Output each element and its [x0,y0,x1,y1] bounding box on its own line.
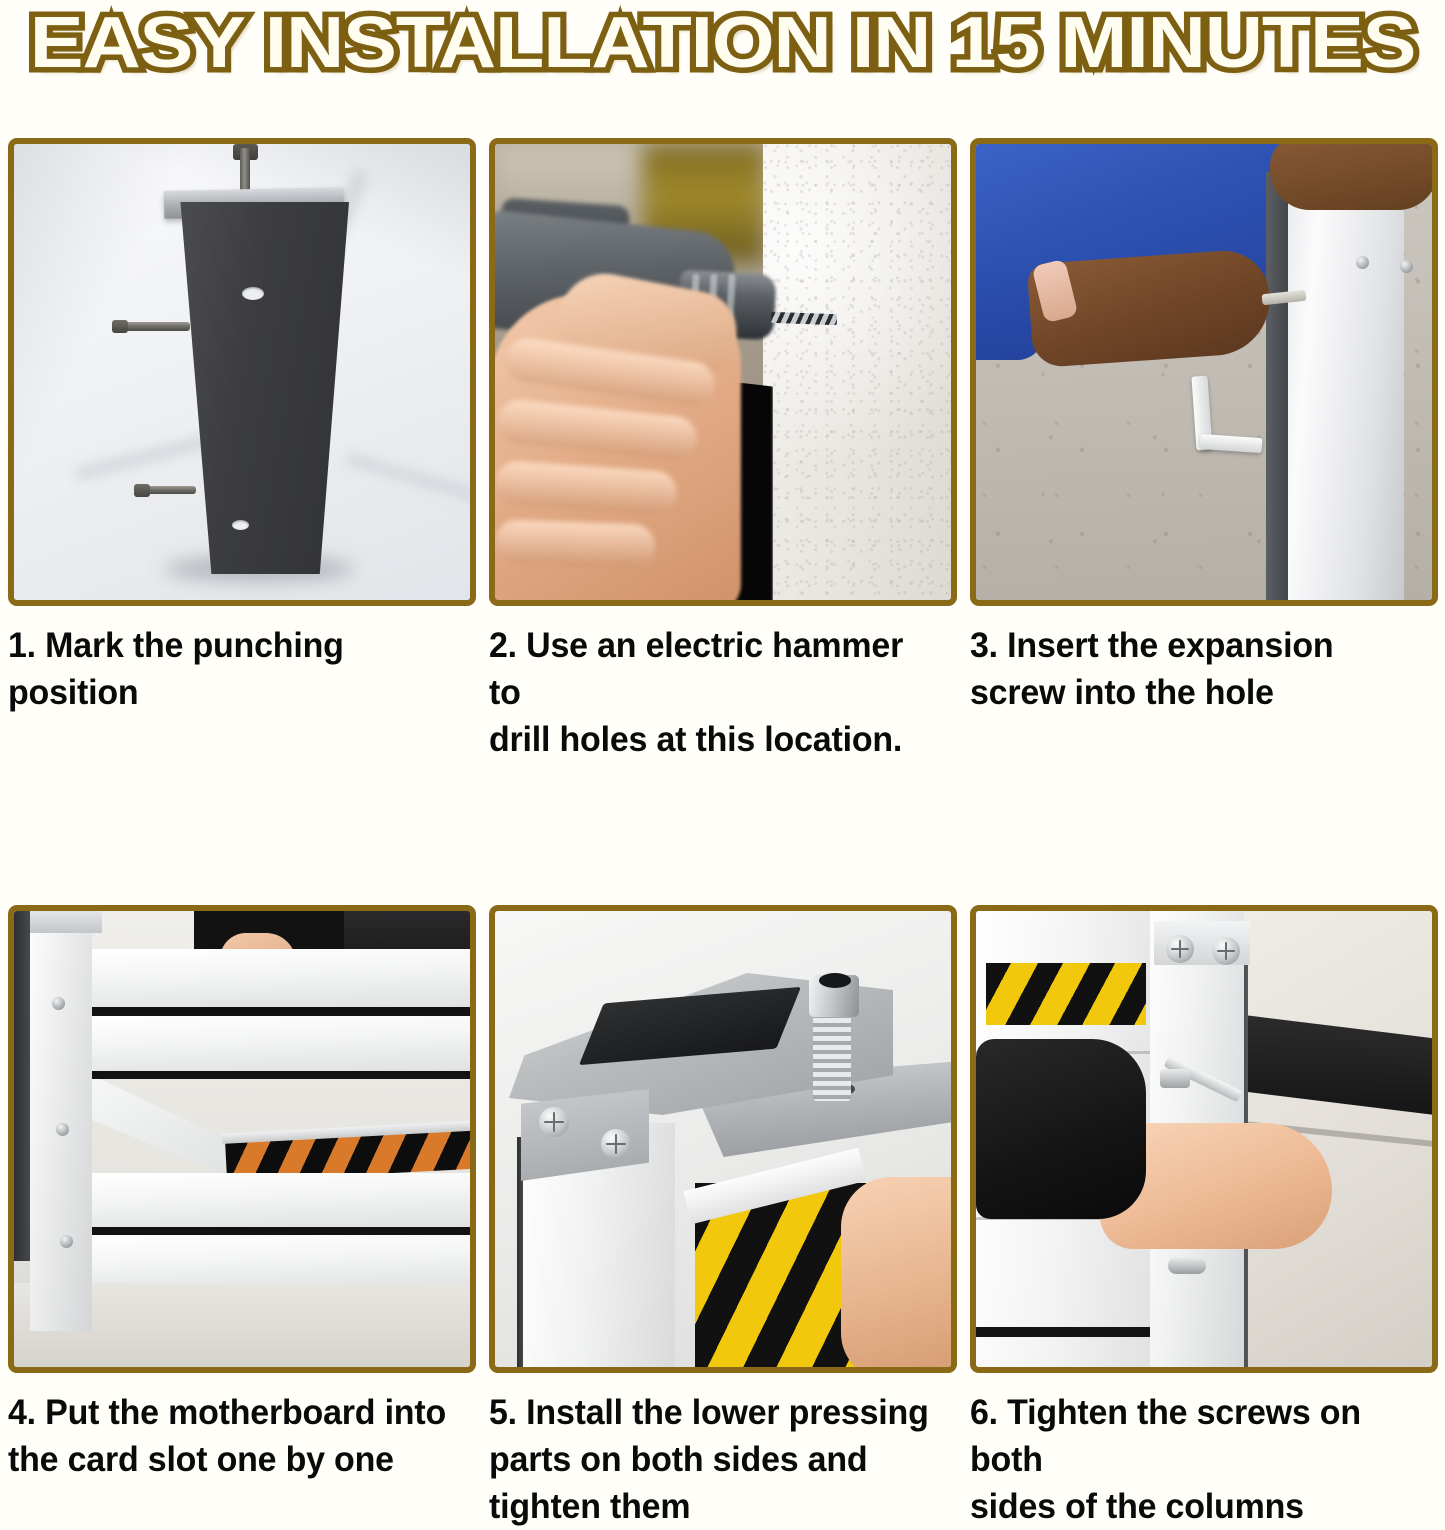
aluminium-post [30,911,92,1331]
plate-hole [232,520,249,530]
post-screw [60,1235,73,1248]
step-card-6: 6. Tighten the screws on both sides of t… [970,905,1438,1530]
phillips-screw [539,1107,569,1137]
column-screw [1400,260,1413,273]
post-top-cap [30,911,102,933]
infographic-page: EASY INSTALLATION IN 15 MINUTES [0,0,1445,1352]
phillips-screw [1212,937,1240,965]
barrier-board [92,949,470,1007]
page-title: EASY INSTALLATION IN 15 MINUTES [30,7,1416,79]
step-photo-4 [14,911,470,1367]
hand [841,1177,951,1367]
black-sleeve [976,1039,1146,1219]
phillips-screw [601,1129,631,1159]
phillips-screw [1166,935,1194,963]
drill-bit [771,312,837,325]
lower-column-bolt [1168,1257,1206,1274]
aluminium-column [1288,168,1404,600]
step-photo-frame-5 [489,905,957,1373]
step-card-3: 3. Insert the expansion screw into the h… [970,138,1438,763]
post-screw [56,1123,69,1136]
step-caption-1: 1. Mark the punching position [8,622,462,716]
thumb-bolt-thread [813,1009,851,1101]
hex-wrench-head [1160,1069,1190,1088]
step-photo-frame-6 [970,905,1438,1373]
step-photo-6 [976,911,1432,1367]
step-photo-1 [14,144,470,600]
side-bolt-head [134,484,150,497]
step-card-5: 5. Install the lower pressing parts on b… [489,905,957,1530]
steps-grid: 1. Mark the punching position [8,138,1438,1530]
step-caption-3: 3. Insert the expansion screw into the h… [970,622,1424,716]
upper-hand [1270,144,1432,210]
hazard-stripe [986,963,1146,1025]
barrier-board [92,1173,470,1227]
step-caption-6: 6. Tighten the screws on both sides of t… [970,1389,1424,1530]
step-photo-frame-4 [8,905,476,1373]
step-photo-5 [495,911,951,1367]
board-seam [976,1327,1158,1337]
column-screw [1356,256,1369,269]
step-card-2: 2. Use an electric hammer to drill holes… [489,138,957,763]
post-screw [52,997,65,1010]
side-bolt-head [112,320,128,333]
step-photo-3 [976,144,1432,600]
step-card-4: 4. Put the motherboard into the card slo… [8,905,476,1530]
top-stud [240,148,250,194]
step-caption-4: 4. Put the motherboard into the card slo… [8,1389,462,1483]
title-banner: EASY INSTALLATION IN 15 MINUTES [0,0,1445,86]
bolt-socket [819,973,851,988]
board-gap [92,1227,470,1235]
board-gap [92,1071,470,1079]
board-gap [92,1007,470,1016]
step-caption-5: 5. Install the lower pressing parts on b… [489,1389,943,1530]
barrier-board [92,1016,470,1071]
textured-wall [763,144,951,600]
step-photo-frame-2 [489,138,957,606]
step-card-1: 1. Mark the punching position [8,138,476,763]
step-photo-2 [495,144,951,600]
step-photo-frame-1 [8,138,476,606]
step-caption-2: 2. Use an electric hammer to drill holes… [489,622,943,763]
finger [495,519,656,569]
plate-hole [242,287,264,300]
step-photo-frame-3 [970,138,1438,606]
